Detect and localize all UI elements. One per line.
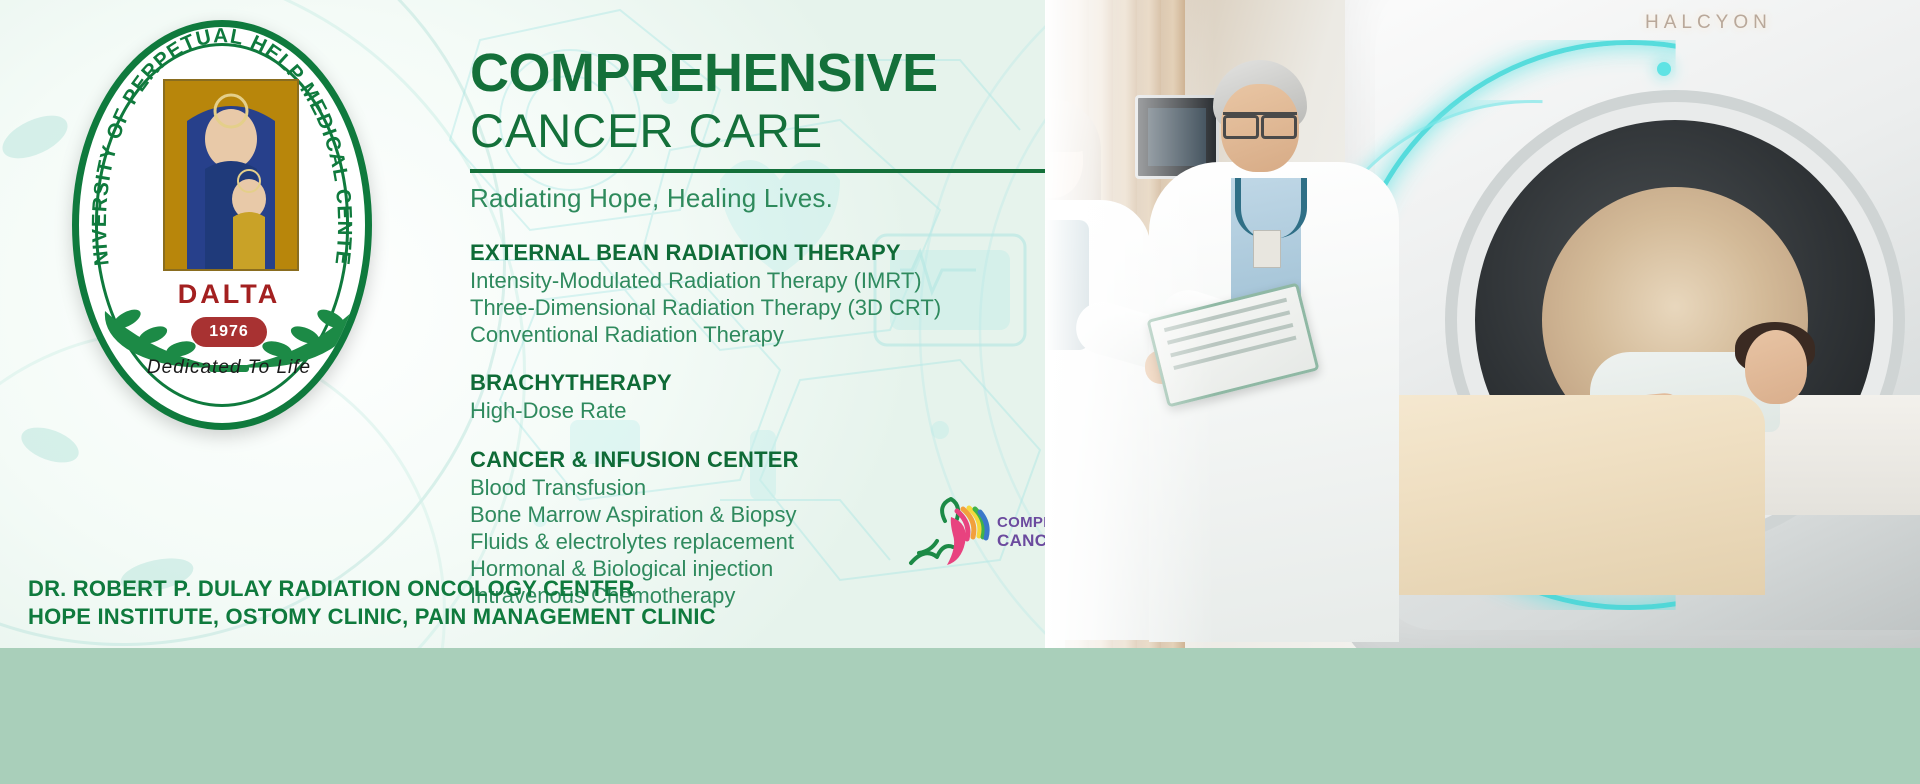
footer-text: DR. ROBERT P. DULAY RADIATION ONCOLOGY C… [28, 575, 1028, 630]
service-items: Intensity-Modulated Radiation Therapy (I… [470, 268, 1110, 348]
tagline: Radiating Hope, Healing Lives. [470, 183, 1130, 214]
awareness-ribbon-icon [905, 495, 991, 569]
banner-card: DALTA 1976 Dedicated To Life UNIVERSITY … [0, 0, 1920, 648]
list-item: High-Dose Rate [470, 398, 1110, 425]
university-seal: DALTA 1976 Dedicated To Life UNIVERSITY … [72, 20, 372, 430]
list-item: Three-Dimensional Radiation Therapy (3D … [470, 295, 1110, 322]
service-title: EXTERNAL BEAN RADIATION THERAPY [470, 240, 1110, 266]
doctor-id-badge [1253, 230, 1281, 268]
list-item: Conventional Radiation Therapy [470, 322, 1110, 349]
list-item: Intensity-Modulated Radiation Therapy (I… [470, 268, 1110, 295]
service-title: CANCER & INFUSION CENTER [470, 447, 1110, 473]
doctor-lanyard [1235, 178, 1307, 238]
service-group-brachytherapy: BRACHYTHERAPY High-Dose Rate [470, 370, 1110, 425]
treatment-room-photo: HALCYON [1045, 0, 1920, 648]
service-title: BRACHYTHERAPY [470, 370, 1110, 396]
glow-node-2 [1657, 62, 1671, 76]
headline-primary: COMPREHENSIVE [470, 46, 1130, 101]
service-group-external-beam: EXTERNAL BEAN RADIATION THERAPY Intensit… [470, 240, 1110, 348]
service-items: High-Dose Rate [470, 398, 1110, 425]
headline-secondary: CANCER CARE [470, 105, 1130, 157]
doctor-eyeglasses [1223, 112, 1297, 133]
machine-brand-label: HALCYON [1645, 12, 1772, 34]
svg-text:UNIVERSITY OF PERPETUAL HELP M: UNIVERSITY OF PERPETUAL HELP MEDICAL CEN… [72, 20, 356, 267]
footer-line-2: HOPE INSTITUTE, OSTOMY CLINIC, PAIN MANA… [28, 603, 1028, 631]
seal-arc-text: UNIVERSITY OF PERPETUAL HELP MEDICAL CEN… [72, 20, 372, 430]
bottom-color-band [0, 648, 1920, 784]
footer-line-1: DR. ROBERT P. DULAY RADIATION ONCOLOGY C… [28, 575, 1028, 603]
services-list: EXTERNAL BEAN RADIATION THERAPY Intensit… [470, 240, 1110, 631]
headline-block: COMPREHENSIVE CANCER CARE Radiating Hope… [470, 46, 1130, 214]
patient-head [1745, 330, 1807, 404]
photo-left-fade [1045, 0, 1215, 648]
cancer-care-banner: DALTA 1976 Dedicated To Life UNIVERSITY … [0, 0, 1920, 784]
headline-divider [470, 169, 1100, 173]
